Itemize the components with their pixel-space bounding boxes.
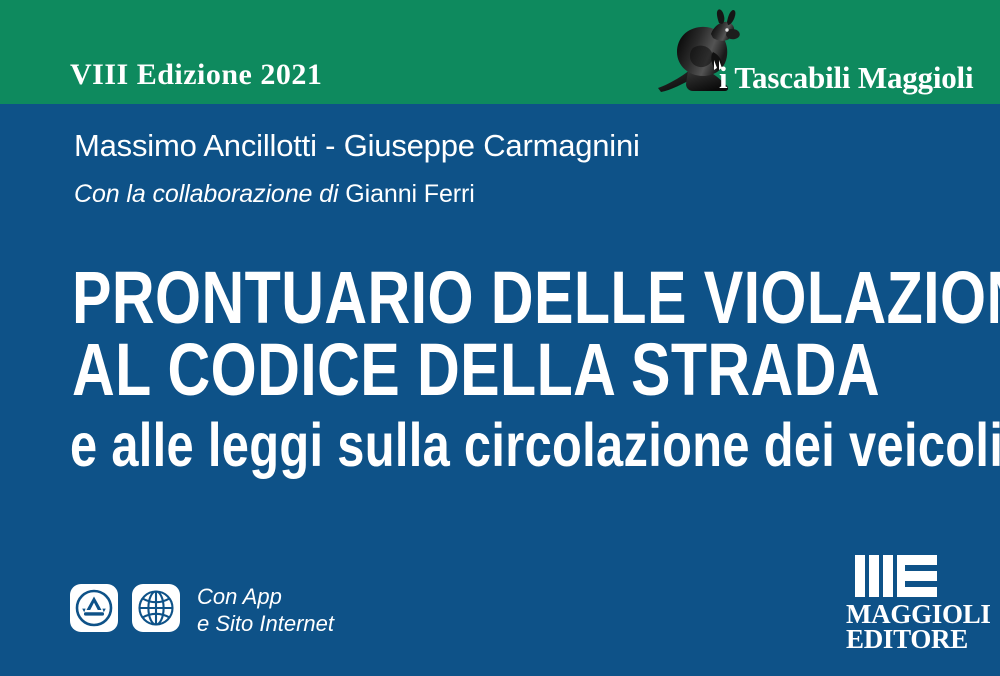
maggioli-me-monogram-icon [855, 555, 937, 597]
badges-text-line-1: Con App [197, 583, 334, 610]
publisher-name-line-2: EDITORE [846, 624, 954, 655]
collaborator-name: Gianni Ferri [345, 180, 474, 208]
badges-text: Con App e Sito Internet [197, 583, 334, 637]
collection-name-label: i Tascabili Maggioli [719, 60, 973, 96]
book-cover: VIII Edizione 2021 [0, 0, 1000, 676]
publisher-logo: MAGGIOLI EDITORE [846, 555, 954, 645]
book-subtitle: e alle leggi sulla circolazione dei veic… [70, 414, 1000, 476]
collaboration-label: Con la collaborazione di Gianni Ferri [74, 180, 475, 209]
collection-logo: i Tascabili Maggioli [655, 8, 955, 100]
edition-label: VIII Edizione 2021 [70, 58, 322, 92]
authors-label: Massimo Ancillotti - Giuseppe Carmagnini [74, 128, 640, 164]
title-line-1: PRONTUARIO DELLE VIOLAZIONI [72, 262, 792, 334]
book-title: PRONTUARIO DELLE VIOLAZIONI AL CODICE DE… [72, 262, 972, 406]
badges-text-line-2: e Sito Internet [197, 610, 334, 637]
title-line-2: AL CODICE DELLA STRADA [72, 334, 792, 406]
globe-icon [132, 584, 180, 632]
collaboration-prefix: Con la collaborazione di [74, 180, 338, 208]
app-store-icon [70, 584, 118, 632]
